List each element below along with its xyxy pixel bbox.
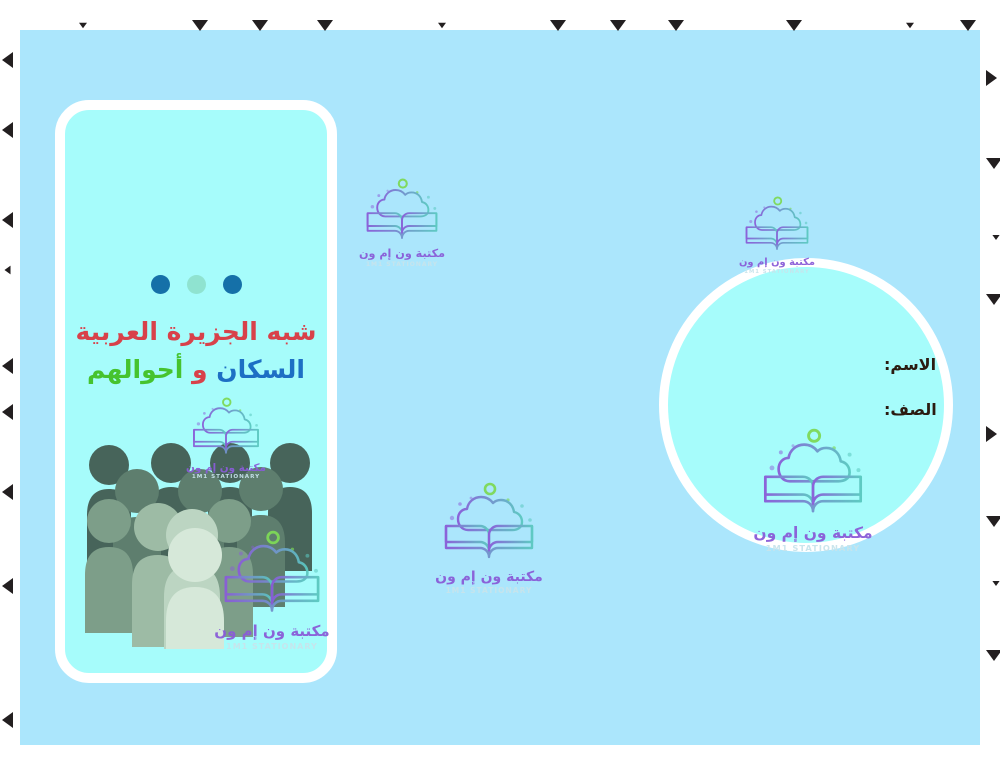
worksheet-page: شبه الجزيرة العربية السكان و أحوالهم: [0, 0, 1000, 772]
edge-marker-right-small: [992, 581, 999, 586]
edge-marker-top: [79, 23, 87, 29]
edge-marker-right-down: [986, 158, 1000, 169]
edge-marker-top: [438, 23, 446, 29]
edge-marker-left: [2, 212, 13, 228]
dot-2: [187, 275, 206, 294]
decorative-dots: [65, 275, 327, 294]
edge-marker-left: [2, 578, 13, 594]
edge-marker-left: [2, 484, 13, 500]
title-predicate: أحوالهم: [87, 355, 183, 384]
title-line-2: السكان و أحوالهم: [65, 353, 327, 387]
edge-marker-left: [2, 712, 13, 728]
edge-marker-right: [986, 70, 997, 86]
edge-marker-right-down: [986, 516, 1000, 527]
dot-3: [223, 275, 242, 294]
edge-marker-left: [2, 358, 13, 374]
edge-marker-right-down: [986, 650, 1000, 661]
edge-marker-right-small: [992, 235, 999, 240]
edge-marker-left: [4, 266, 10, 275]
edge-marker-right: [986, 426, 997, 442]
edge-marker-top: [906, 23, 914, 29]
class-field-label: الصف:: [884, 400, 937, 419]
crowd-of-people-illustration: [79, 439, 327, 649]
dot-1: [151, 275, 170, 294]
edge-marker-left: [2, 404, 13, 420]
title-line-1: شبه الجزيرة العربية: [65, 315, 327, 349]
edge-marker-right-down: [986, 294, 1000, 305]
title-subject: السكان: [216, 355, 305, 384]
edge-marker-left: [2, 52, 13, 68]
edge-marker-left: [2, 122, 13, 138]
page-title: شبه الجزيرة العربية السكان و أحوالهم: [65, 315, 327, 387]
title-conjunction: و: [183, 355, 216, 384]
name-field-label: الاسم:: [884, 355, 936, 374]
worksheet-card: شبه الجزيرة العربية السكان و أحوالهم: [55, 100, 337, 683]
